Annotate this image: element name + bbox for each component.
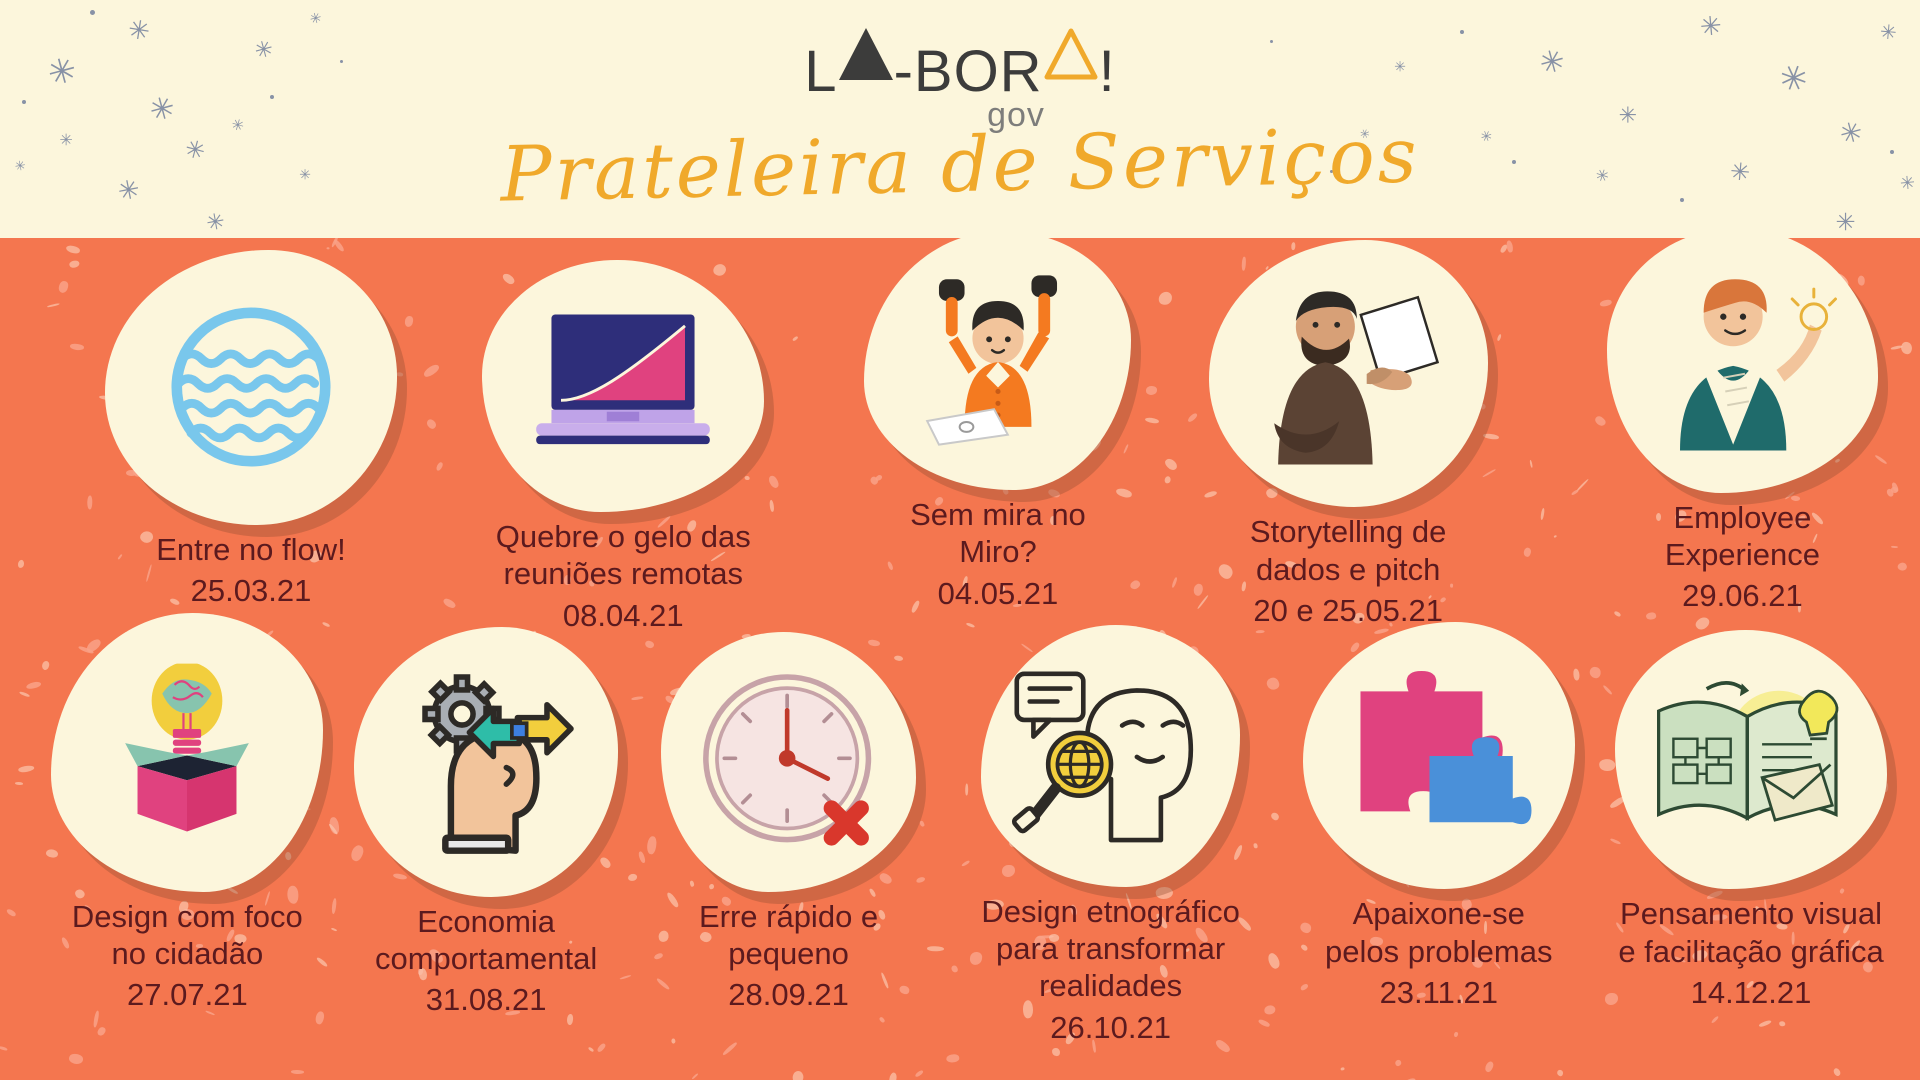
star-icon: ✳ <box>308 11 323 28</box>
card-date: 14.12.21 <box>1531 974 1920 1013</box>
triangle-outline-icon <box>1044 28 1098 80</box>
card-illustration <box>1615 630 1887 890</box>
service-card[interactable]: Entre no flow!25.03.21 <box>67 250 434 610</box>
service-card-grid: Entre no flow!25.03.21 Quebre o gelo das… <box>0 238 1920 1080</box>
card-date: 26.10.21 <box>909 1009 1313 1048</box>
card-illustration <box>1209 240 1488 507</box>
dot-icon <box>1680 198 1684 202</box>
card-illustration <box>661 632 916 892</box>
card-title: Storytelling de dados e pitch <box>1152 513 1544 587</box>
dot-icon <box>90 10 95 15</box>
service-card[interactable]: Employee Experience29.06.21 <box>1559 228 1920 616</box>
laptop-chart-icon <box>482 260 764 512</box>
card-illustration <box>51 613 323 892</box>
clock-cross-icon <box>661 632 916 892</box>
star-icon: ✳ <box>1830 206 1861 237</box>
card-illustration <box>864 231 1131 491</box>
flow-waves-icon <box>105 250 396 524</box>
card-title: Employee Experience <box>1559 499 1920 573</box>
brand-logo: L-BOR! <box>0 28 1920 100</box>
card-title: Entre no flow! <box>67 531 434 568</box>
service-card[interactable]: Pensamento visual e facilitação gráfica1… <box>1531 630 1920 1013</box>
card-illustration <box>105 250 396 524</box>
triangle-filled-icon <box>839 28 893 80</box>
service-card[interactable]: Quebre o gelo das reuniões remotas08.04.… <box>427 260 819 635</box>
card-illustration <box>482 260 764 512</box>
card-illustration <box>981 625 1241 887</box>
person-celebrating-icon <box>864 231 1131 491</box>
head-gear-arrows-icon <box>354 627 618 896</box>
head-globe-search-icon <box>981 625 1241 887</box>
open-book-icon <box>1615 630 1887 890</box>
service-card[interactable]: Storytelling de dados e pitch20 e 25.05.… <box>1152 240 1544 630</box>
man-presenting-icon <box>1209 240 1488 507</box>
lightbulb-box-icon <box>51 613 323 892</box>
service-card[interactable]: Sem mira no Miro?04.05.21 <box>814 231 1181 614</box>
card-date: 04.05.21 <box>814 575 1181 614</box>
man-idea-bulb-icon <box>1607 228 1879 492</box>
card-date: 25.03.21 <box>67 572 434 611</box>
card-title: Sem mira no Miro? <box>814 496 1181 570</box>
card-title: Pensamento visual e facilitação gráfica <box>1531 895 1920 969</box>
card-title: Quebre o gelo das reuniões remotas <box>427 518 819 592</box>
card-illustration <box>354 627 618 896</box>
card-illustration <box>1607 228 1879 492</box>
header-banner: ✳✳✳✳✳✳✳✳✳✳✳✳✳✳✳✳✳✳✳✳✳✳✳✳✳ L-BOR! gov Pra… <box>0 0 1920 238</box>
card-date: 29.06.21 <box>1559 577 1920 616</box>
